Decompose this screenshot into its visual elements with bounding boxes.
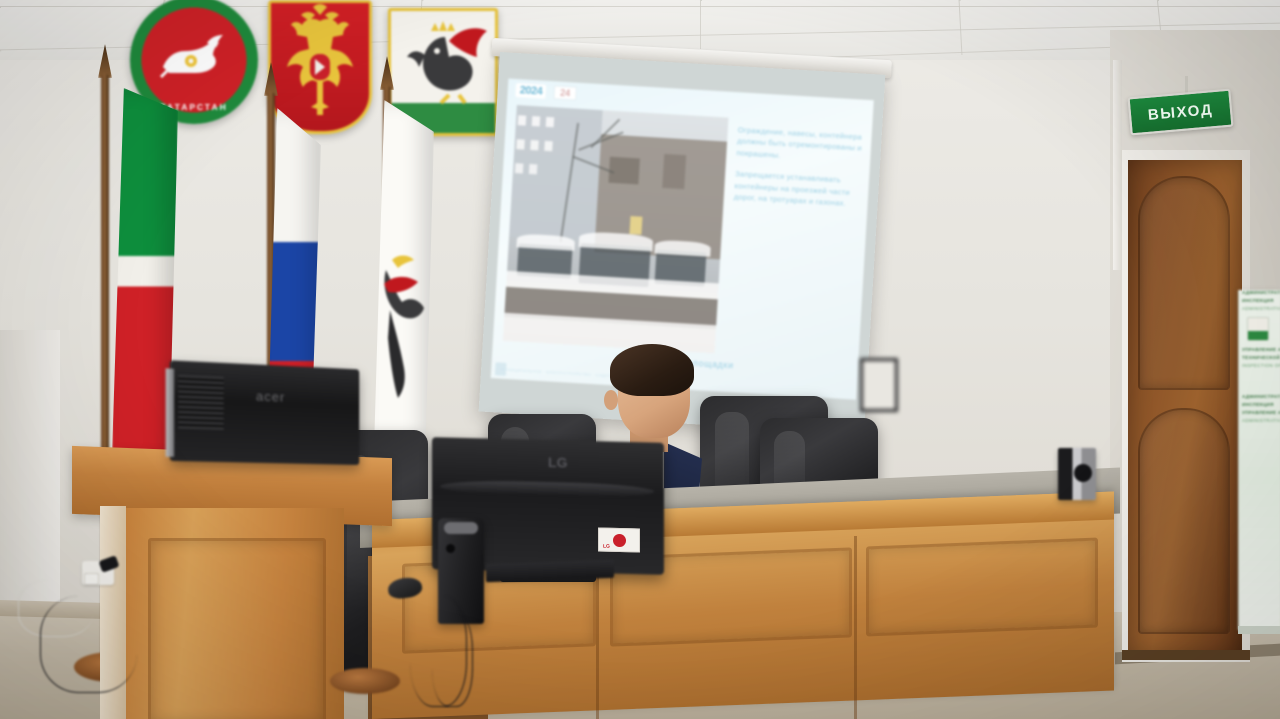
banner-line-en-repeat: ADMINISTRATIVE AND TECHNICAL <box>1242 418 1280 423</box>
banner-crest-icon <box>1247 317 1269 341</box>
double-headed-eagle-icon <box>271 3 369 131</box>
power-button-icon[interactable] <box>446 544 455 553</box>
wall-cable-trunk <box>1113 60 1122 270</box>
tower-top-cap <box>444 522 478 534</box>
banner-line-ru-repeat-0: АДМИНИСТРАТИВНО-ТЕХНИЧЕСКАЯ <box>1242 394 1280 399</box>
monitor-lg-ridge <box>440 479 654 498</box>
slide-logo-secondary: 24 <box>554 85 577 100</box>
banner-line-ru-3: ТЕХНИЧЕСКОЙ ИНСПЕКЦИИ <box>1242 355 1280 360</box>
flag-stand-base-district <box>330 668 400 694</box>
slide-paragraph-2: Запрещается устанавливать контейнеры на … <box>733 168 861 210</box>
exit-sign-label: ВЫХОД <box>1147 101 1214 124</box>
roll-up-banner: АДМИНИСТРАТИВНО-ТЕХНИЧЕСКАЯ ИНСПЕКЦИЯ AD… <box>1238 290 1280 630</box>
slide-body-text: Ограждение, навесы, контейнера должны бы… <box>733 124 864 220</box>
wall-power-outlet[interactable] <box>82 561 114 585</box>
monitor-acer-vent <box>178 375 223 430</box>
lectern-front-panel <box>148 538 326 719</box>
power-adapter-icon <box>84 573 99 585</box>
black-cable-1 <box>40 596 137 693</box>
monitor-acer[interactable]: acer <box>170 360 359 465</box>
banner-line-ru-0: АДМИНИСТРАТИВНО-ТЕХНИЧЕСКАЯ <box>1242 290 1280 295</box>
monitor-acer-brand: acer <box>256 389 285 405</box>
banner-line-en-0: ADMINISTRATIVE AND TECHNICAL <box>1242 306 1280 311</box>
monitor-lg-brand: LG <box>548 454 567 470</box>
monitor-acer-side-trim <box>166 368 174 457</box>
snow-leopard-icon <box>157 33 231 81</box>
banner-line-ru-repeat-1: ИНСПЕКЦИЯ <box>1242 402 1280 407</box>
slide-photo <box>503 105 729 353</box>
desk-panel-3 <box>866 538 1098 637</box>
person-hair <box>610 344 694 396</box>
lg-sticker-label: LG <box>603 544 610 550</box>
desk-seam-2 <box>854 536 857 719</box>
screen-frame-edge <box>860 358 898 412</box>
flag-district-emblem-icon <box>380 250 426 410</box>
slide-paragraph-1: Ограждение, навесы, контейнера должны бы… <box>736 124 864 166</box>
door-sill <box>1122 650 1250 660</box>
door-panel-lower <box>1138 408 1230 634</box>
banner-line-ru-repeat-2: УПРАВЛЕНИЕ АДМИНИСТРАТИВНО- <box>1242 410 1280 415</box>
person-ear <box>604 390 618 410</box>
speaker-driver-icon <box>1074 464 1092 482</box>
wooden-door[interactable] <box>1128 160 1242 655</box>
door-panel-upper <box>1138 176 1230 390</box>
lg-sticker-dot-icon <box>613 533 626 546</box>
banner-base <box>1238 626 1280 634</box>
slide-logos: 2024 24 <box>515 83 576 101</box>
conference-room-photo: ТАТАРСТАН <box>0 0 1280 719</box>
black-cable-3 <box>432 612 473 707</box>
wall-speaker <box>1058 448 1096 500</box>
banner-line-en-1: INSPECTION OFFICE <box>1242 363 1280 368</box>
banner-line-ru-2: УПРАВЛЕНИЕ АДМИНИСТРАТИВНО- <box>1242 347 1280 352</box>
slide-logo-2024: 2024 <box>515 83 546 99</box>
banner-line-ru-1: ИНСПЕКЦИЯ <box>1242 298 1280 303</box>
lg-energy-sticker: LG <box>598 527 640 552</box>
